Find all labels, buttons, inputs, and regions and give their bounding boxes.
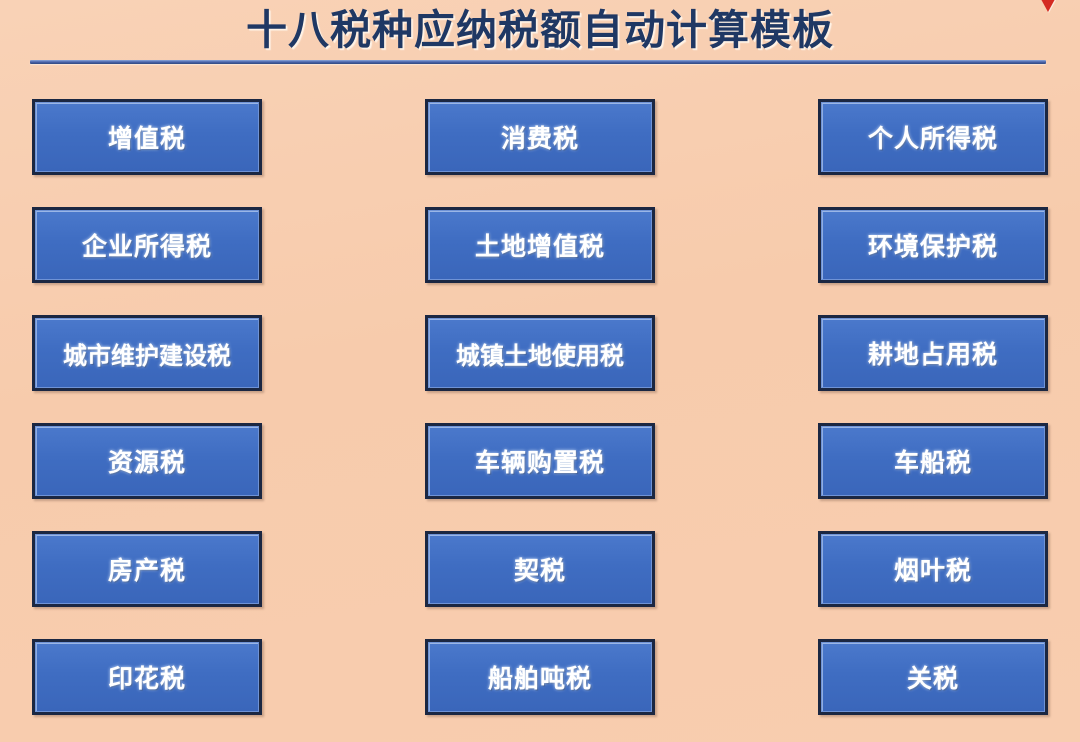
tax-button-vessel-tonnage-tax[interactable]: 船舶吨税: [425, 639, 655, 715]
tax-button-vehicle-acquisition-tax[interactable]: 车辆购置税: [425, 423, 655, 499]
tax-button-label: 房产税: [108, 551, 186, 587]
slide-canvas: 十八税种应纳税额自动计算模板 增值税 消费税 个人所得税 企业所得税 土地增值税…: [0, 0, 1080, 742]
tax-button-vehicle-vessel-tax[interactable]: 车船税: [818, 423, 1048, 499]
tax-button-corporate-income-tax[interactable]: 企业所得税: [32, 207, 262, 283]
tax-button-urban-land-use-tax[interactable]: 城镇土地使用税: [425, 315, 655, 391]
tax-button-label: 关税: [907, 659, 959, 695]
tax-button-vat[interactable]: 增值税: [32, 99, 262, 175]
tax-button-label: 船舶吨税: [488, 659, 592, 695]
tax-button-urban-maintenance-construction-tax[interactable]: 城市维护建设税: [32, 315, 262, 391]
tax-button-label: 增值税: [108, 119, 186, 155]
tax-button-label: 车辆购置税: [475, 443, 605, 479]
tax-button-label: 个人所得税: [868, 119, 998, 155]
tax-button-label: 城镇土地使用税: [456, 336, 624, 371]
tax-button-label: 企业所得税: [82, 227, 212, 263]
tax-button-deed-tax[interactable]: 契税: [425, 531, 655, 607]
tax-button-label: 契税: [514, 551, 566, 587]
tax-button-farmland-occupation-tax[interactable]: 耕地占用税: [818, 315, 1048, 391]
tax-button-environmental-protection-tax[interactable]: 环境保护税: [818, 207, 1048, 283]
tax-button-label: 资源税: [108, 443, 186, 479]
tax-button-stamp-tax[interactable]: 印花税: [32, 639, 262, 715]
tax-button-tobacco-leaf-tax[interactable]: 烟叶税: [818, 531, 1048, 607]
title-divider: [30, 60, 1046, 64]
tax-button-label: 城市维护建设税: [63, 336, 231, 371]
title-container: 十八税种应纳税额自动计算模板: [0, 2, 1080, 58]
tax-button-label: 耕地占用税: [868, 335, 998, 371]
tax-button-land-appreciation-tax[interactable]: 土地增值税: [425, 207, 655, 283]
tax-button-grid: 增值税 消费税 个人所得税 企业所得税 土地增值税 环境保护税 城市维护建设税 …: [32, 99, 1048, 715]
page-title: 十八税种应纳税额自动计算模板: [246, 2, 834, 58]
tax-button-resource-tax[interactable]: 资源税: [32, 423, 262, 499]
tax-button-label: 烟叶税: [894, 551, 972, 587]
tax-button-house-property-tax[interactable]: 房产税: [32, 531, 262, 607]
tax-button-label: 土地增值税: [475, 227, 605, 263]
tax-button-label: 环境保护税: [868, 227, 998, 263]
tax-button-label: 印花税: [108, 659, 186, 695]
tax-button-individual-income-tax[interactable]: 个人所得税: [818, 99, 1048, 175]
tax-button-label: 车船税: [894, 443, 972, 479]
tax-button-label: 消费税: [501, 119, 579, 155]
tax-button-consumption-tax[interactable]: 消费税: [425, 99, 655, 175]
tax-button-customs-duty[interactable]: 关税: [818, 639, 1048, 715]
